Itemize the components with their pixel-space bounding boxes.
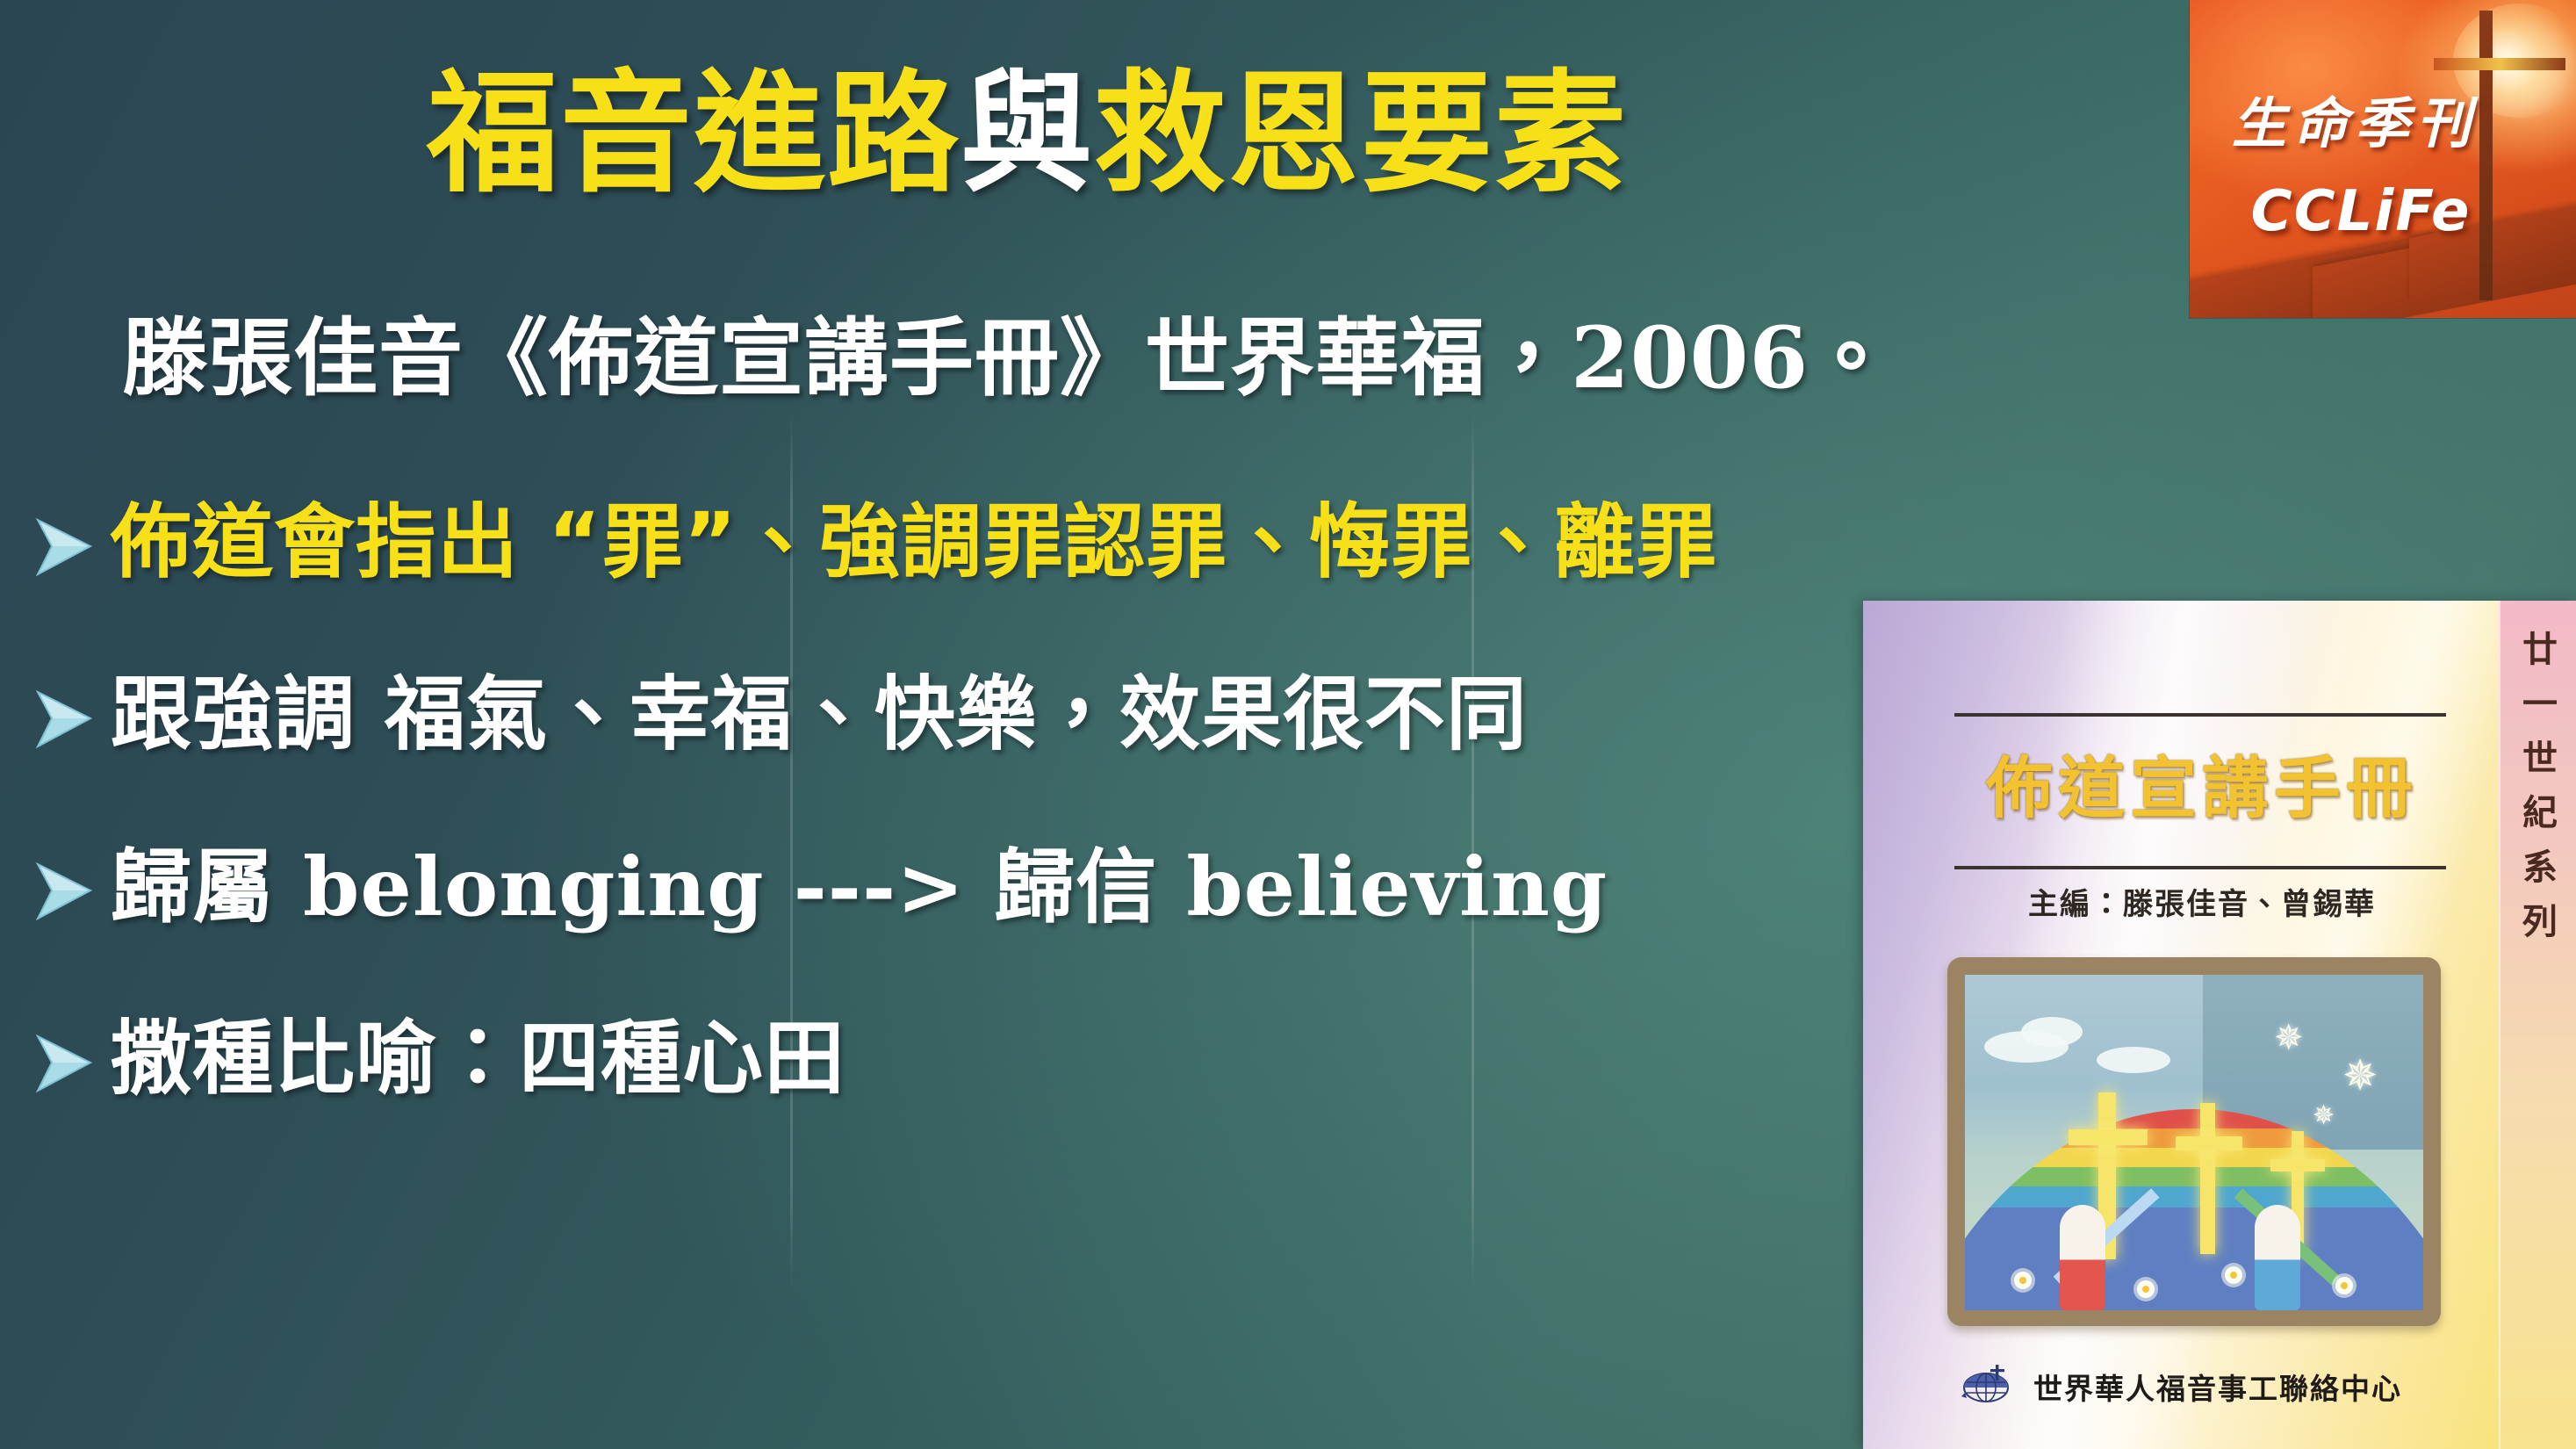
- bullet-list: 佈道會指出 “罪”、強調罪認罪、悔罪、離罪 跟強調 福氣、幸福、快樂，效果很不同: [0, 457, 1932, 1145]
- flower-icon: [2335, 1277, 2353, 1294]
- divider-bottom: [1954, 866, 2446, 869]
- slide-subtitle-citation: 滕張佳音《佈道宣講手冊》世界華福，2006。: [123, 290, 1894, 412]
- list-item-label: 佈道會指出 “罪”、強調罪認罪、悔罪、離罪: [111, 501, 1932, 586]
- cross-icon: [2270, 1159, 2325, 1171]
- slide-title-part-1: 福音進路: [427, 58, 961, 211]
- cross-icon: [2176, 1136, 2242, 1150]
- arrow-marker-icon: [14, 1019, 111, 1099]
- star-icon: ✵: [2313, 1103, 2335, 1129]
- cross-icon: [2069, 1129, 2148, 1145]
- cloud-icon: [2021, 1017, 2083, 1047]
- cover-illustration-scene: ✵ ✵ ✵: [1965, 975, 2423, 1310]
- divider-top: [1954, 713, 2446, 717]
- person-figure: [2060, 1205, 2105, 1310]
- cross-icon-horizontal: [2434, 58, 2565, 70]
- book-editors: 主編：滕張佳音、曾錫華: [1947, 880, 2457, 923]
- flower-icon: [2014, 1272, 2032, 1289]
- person-figure: [2255, 1205, 2300, 1310]
- arrow-marker-icon: [14, 674, 111, 755]
- slide-canvas: 福音進路與救恩要素 滕張佳音《佈道宣講手冊》世界華福，2006。 佈道會指出 “…: [0, 0, 2576, 1449]
- publisher-block: 世界華人福音事工聯絡中心: [1960, 1363, 2402, 1409]
- book-series-label: 廿一世紀系列: [2516, 631, 2562, 957]
- list-item: 跟強調 福氣、幸福、快樂，效果很不同: [0, 629, 1932, 801]
- publisher-name: 世界華人福音事工聯絡中心: [2033, 1366, 2402, 1408]
- slide-title: 福音進路與救恩要素: [0, 68, 2054, 200]
- list-item-label: 撒種比喻：四種心田: [111, 1017, 1932, 1102]
- globe-cross-icon: [1960, 1363, 2018, 1409]
- arrow-marker-icon: [14, 847, 111, 927]
- flower-icon: [2225, 1266, 2242, 1284]
- slide-title-part-2: 與: [961, 58, 1094, 211]
- cloud-icon: [2097, 1047, 2170, 1073]
- list-item: 歸屬 belonging ---> 歸信 believing: [0, 801, 1932, 973]
- list-item: 佈道會指出 “罪”、強調罪認罪、悔罪、離罪: [0, 457, 1932, 629]
- cclife-magazine-logo-image: 生命季刊 CCLiFe: [2190, 0, 2576, 318]
- list-item-label: 歸屬 belonging ---> 歸信 believing: [111, 845, 1932, 930]
- book-title: 佈道宣講手冊: [1947, 734, 2457, 831]
- book-cover-image: 廿一世紀系列 佈道宣講手冊 主編：滕張佳音、曾錫華 ✵ ✵ ✵: [1863, 601, 2576, 1449]
- cclife-chinese-title: 生命季刊: [2190, 79, 2520, 158]
- cross-icon: [2200, 1103, 2215, 1254]
- list-item-label: 跟強調 福氣、幸福、快樂，效果很不同: [111, 673, 1932, 758]
- star-icon: ✵: [2274, 1020, 2304, 1056]
- cclife-english-title: CCLiFe: [2190, 179, 2532, 244]
- cover-illustration-panel: ✵ ✵ ✵: [1947, 957, 2441, 1326]
- arrow-marker-icon: [14, 502, 111, 583]
- list-item: 撒種比喻：四種心田: [0, 973, 1932, 1145]
- star-icon: ✵: [2342, 1056, 2378, 1098]
- slide-title-part-3: 救恩要素: [1094, 58, 1628, 211]
- flower-icon: [2137, 1280, 2155, 1298]
